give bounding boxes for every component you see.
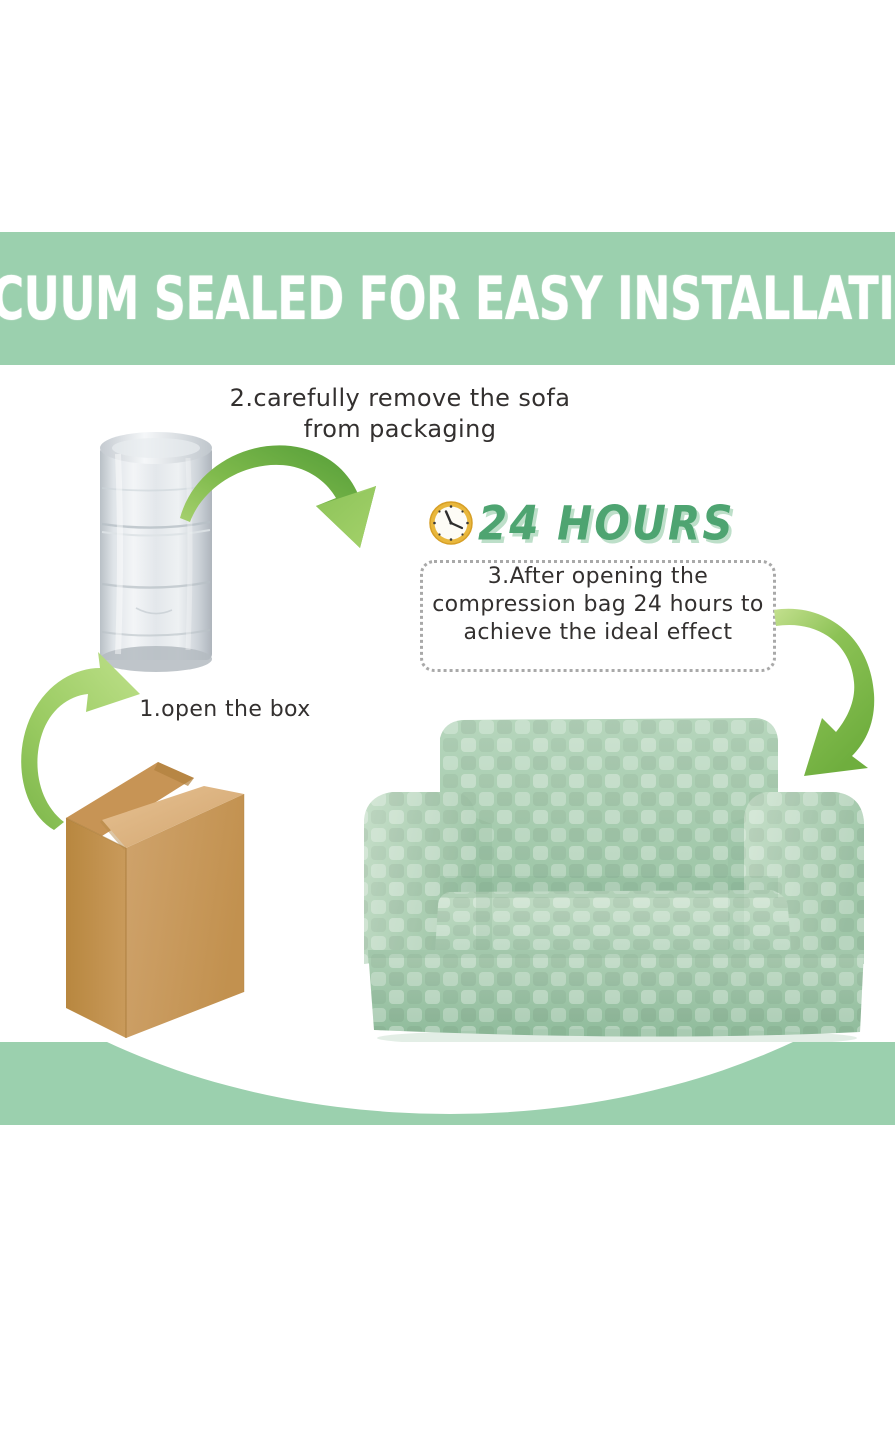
mint-green-plush-sofa xyxy=(352,700,882,1050)
bottom-decorative-band xyxy=(0,1042,895,1125)
banner-title: VACUUM SEALED FOR EASY INSTALLATION xyxy=(4,232,890,365)
hours-badge-label: 24 HOURS xyxy=(478,496,735,551)
banner: VACUUM SEALED FOR EASY INSTALLATION xyxy=(0,232,895,365)
cardboard-box xyxy=(58,756,253,1048)
step-3-callout-box: 3.After opening the compression bag 24 h… xyxy=(420,560,776,672)
bottom-band-curve xyxy=(0,1042,895,1114)
infographic-page: VACUUM SEALED FOR EASY INSTALLATION 2.ca… xyxy=(0,0,895,1440)
step-1-caption: 1.open the box xyxy=(100,696,350,724)
hours-badge: 24 HOURS xyxy=(428,492,788,554)
arrow-roll-to-bag-icon xyxy=(176,432,406,560)
step-3-caption: 3.After opening the compression bag 24 h… xyxy=(423,563,773,647)
clock-icon xyxy=(428,500,474,546)
